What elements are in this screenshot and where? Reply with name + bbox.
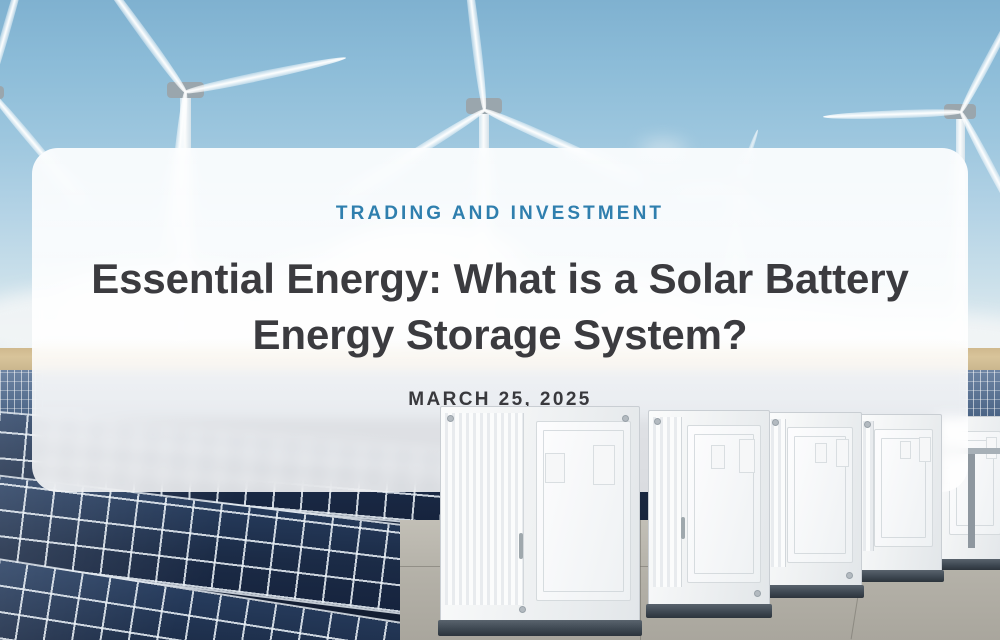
cabinet-label	[836, 439, 849, 467]
cabinet-label	[900, 441, 911, 459]
cabinet-bolt	[622, 415, 629, 422]
cabinet-base	[934, 559, 1000, 570]
cabinet-handle	[681, 517, 685, 539]
battery-storage-cabinet	[440, 406, 640, 628]
cabinet-bolt	[772, 419, 779, 426]
cabinet-bolt	[654, 418, 661, 425]
cabinet-label	[593, 445, 615, 485]
solar-array-support-leg	[968, 448, 975, 548]
cabinet-label	[815, 443, 827, 463]
cabinet-base	[764, 585, 864, 598]
cabinet-bolt	[447, 415, 454, 422]
battery-storage-cabinet	[648, 410, 770, 610]
cabinet-base	[438, 620, 642, 636]
cabinet-base	[856, 570, 944, 582]
cabinet-door	[536, 421, 631, 601]
category-label: TRADING AND INVESTMENT	[336, 204, 664, 223]
turbine-blade	[459, 0, 489, 111]
cabinet-handle	[519, 533, 523, 559]
cabinet-bolt	[519, 606, 526, 613]
cabinet-cooling-fins	[771, 419, 786, 567]
cabinet-bolt	[754, 590, 761, 597]
turbine-nacelle	[0, 86, 4, 99]
page-title-line-2: Energy Storage System?	[253, 311, 748, 358]
cabinet-base	[646, 604, 772, 618]
turbine-blade	[0, 0, 34, 91]
page-title-line-1: Essential Energy: What is a Solar Batter…	[91, 255, 909, 302]
cabinet-label	[711, 445, 725, 469]
turbine-blade	[957, 0, 1000, 114]
page-title: Essential Energy: What is a Solar Batter…	[70, 251, 930, 364]
hero-banner: TRADING AND INVESTMENT Essential Energy:…	[0, 0, 1000, 640]
cabinet-cooling-fins	[863, 421, 874, 551]
cabinet-label	[739, 439, 755, 473]
battery-storage-cabinet	[766, 412, 862, 590]
cabinet-label	[919, 437, 931, 462]
cabinet-bolt	[846, 572, 853, 579]
battery-storage-cabinet	[858, 414, 942, 574]
turbine-blade	[85, 0, 189, 95]
cabinet-cooling-fins	[445, 413, 524, 605]
turbine-blade	[185, 54, 347, 97]
cabinet-label	[545, 453, 565, 483]
cabinet-bolt	[864, 421, 871, 428]
cabinet-cooling-fins	[653, 417, 682, 587]
